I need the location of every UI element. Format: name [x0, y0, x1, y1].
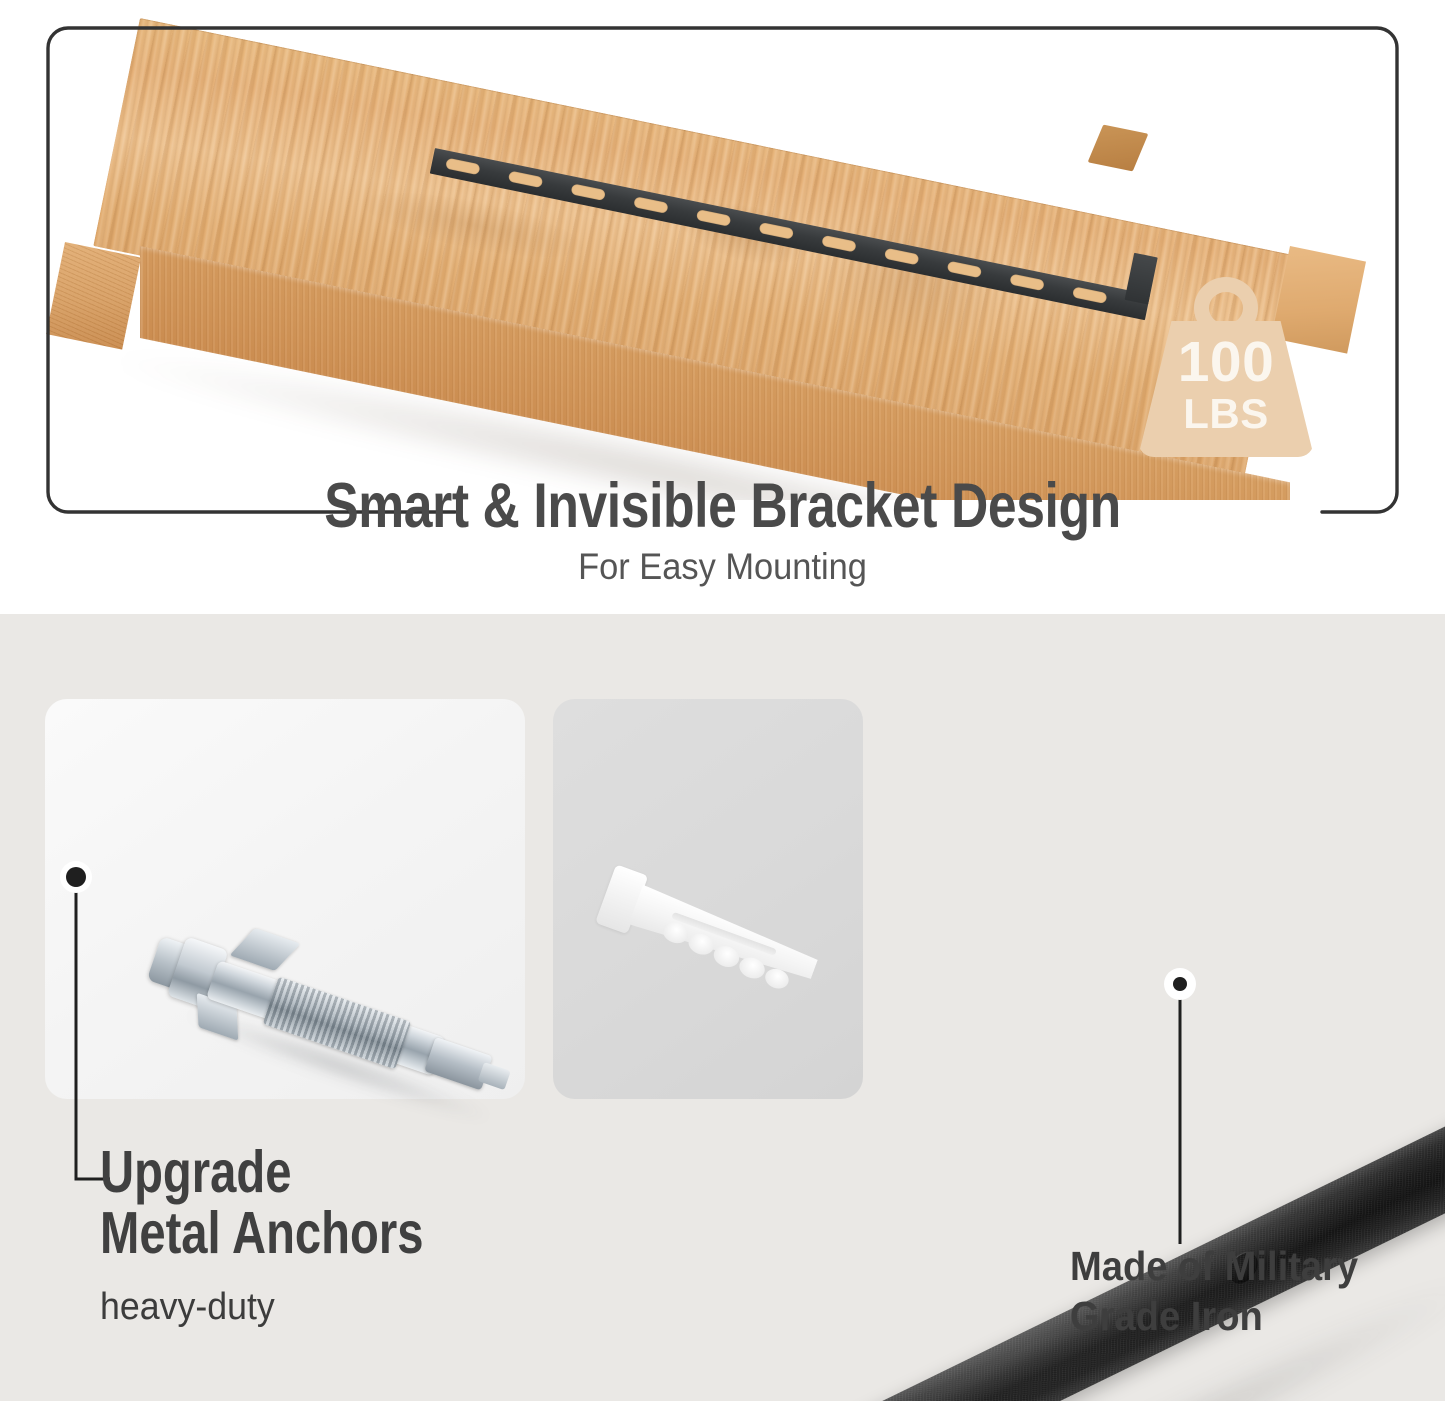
- page-title: Smart & Invisible Bracket Design: [130, 470, 1315, 542]
- callout-headline-line2: Metal Anchors: [100, 1203, 423, 1264]
- anchor-wing-upper: [230, 928, 301, 971]
- bottom-panel: Upgrade Metal Anchors heavy-duty Made of…: [0, 614, 1445, 1401]
- anchor-bolt-end: [478, 1062, 511, 1090]
- callout-headline-line1: Made of Military: [1070, 1241, 1358, 1291]
- callout-headline-line2: Grade Iron: [1070, 1291, 1358, 1341]
- weight-value: 100: [1138, 335, 1314, 391]
- ring-marker: [1173, 977, 1187, 991]
- callout-metal-anchors: Upgrade Metal Anchors heavy-duty: [100, 1142, 504, 1329]
- top-panel: 100 LBS Smart & Invisible Bracket Design…: [0, 0, 1445, 614]
- callout-subline: heavy-duty: [100, 1286, 480, 1329]
- metal-anchor-illustration: [103, 886, 530, 1158]
- metal-anchor-card: [45, 699, 525, 1099]
- weight-unit: LBS: [1138, 393, 1314, 434]
- callout-military-iron: Made of Military Grade Iron: [1070, 1241, 1380, 1341]
- page-subtitle: For Easy Mounting: [51, 546, 1395, 588]
- callout-headline-line1: Upgrade: [100, 1142, 423, 1203]
